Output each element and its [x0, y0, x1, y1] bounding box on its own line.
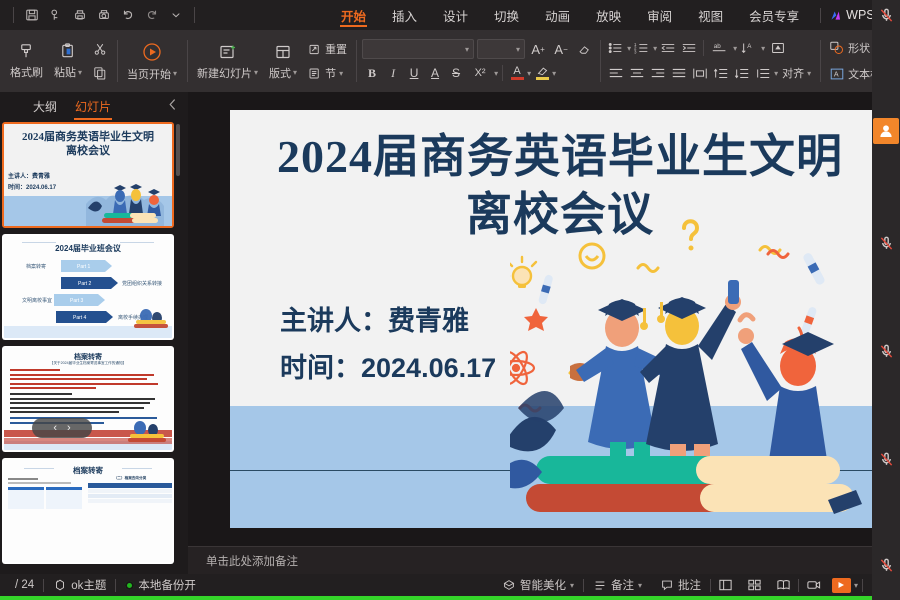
mic-muted-icon[interactable] [873, 340, 899, 362]
chevron-down-icon[interactable]: ▾ [733, 44, 737, 53]
chevron-down-icon[interactable]: ▾ [638, 581, 642, 590]
chevron-down-icon[interactable]: ▾ [339, 69, 343, 78]
comment-icon [660, 578, 674, 592]
wps-presentation-window: 开始 插入 设计 切换 动画 放映 审阅 视图 会员专享 WPS AI [0, 0, 900, 600]
part-label: Part 2 [78, 281, 92, 287]
decrease-indent-icon [660, 41, 676, 55]
bold-button[interactable]: B [362, 63, 382, 83]
font-controls-row: ▾ ▾ A+ A− [362, 39, 594, 59]
svg-text:A: A [747, 43, 752, 50]
align-center-icon [629, 67, 645, 79]
increase-font-size-button[interactable]: A+ [528, 39, 548, 59]
align-left-button[interactable] [606, 63, 626, 83]
decrease-spacing-icon [713, 67, 729, 80]
divider [194, 7, 195, 23]
paste-icon [59, 42, 78, 61]
part-label: Part 4 [73, 315, 87, 321]
italic-button[interactable]: I [383, 63, 403, 83]
divider [502, 65, 503, 81]
backup-status-dot [125, 581, 134, 590]
part-label: Part 3 [70, 298, 84, 304]
format-painter-icon [17, 42, 36, 61]
status-right: 智能美化 ▾ 备注 ▾ 批注 [493, 574, 900, 596]
cloud-link-icon[interactable] [45, 4, 67, 26]
title-bar: 开始 插入 设计 切换 动画 放映 审阅 视图 会员专享 WPS AI [0, 0, 900, 30]
chevron-down-icon[interactable]: ▾ [527, 69, 531, 78]
slide-thumbnail-panel: 大纲 幻灯片 2024届商务英语毕业生文明 离校会议 [0, 92, 188, 574]
list-item[interactable]: 2024届毕业班会议 Part 1 档案转寄 Part 2 党团组织关系转接 P… [0, 234, 188, 340]
clipboard-small-buttons [89, 35, 111, 87]
chevron-down-icon[interactable]: ▾ [254, 68, 258, 77]
align-right-button[interactable] [648, 63, 668, 83]
print-icon[interactable] [69, 4, 91, 26]
chevron-down-icon[interactable]: ▾ [516, 45, 520, 54]
meeting-participants-sidebar[interactable] [872, 0, 900, 600]
notes-icon [593, 579, 607, 592]
tab-label: 审阅 [647, 6, 672, 25]
new-slide-icon [218, 42, 238, 62]
thumbnail-slide-4[interactable]: 档案转寄 （二）档案去向分类 [2, 458, 174, 564]
current-slide[interactable]: 2024届商务英语毕业生文明 离校会议 主讲人：费青雅 时间：2024.06.1… [230, 110, 890, 528]
tab-outline[interactable]: 大纲 [32, 94, 58, 119]
record-button[interactable] [799, 574, 828, 596]
highlighter-icon [536, 66, 549, 76]
copy-button[interactable] [89, 62, 111, 84]
print-preview-icon[interactable] [93, 4, 115, 26]
tab-label: 插入 [392, 6, 417, 25]
font-color-glyph: A [513, 66, 520, 76]
thumb-subtitle: 主讲人：费青雅 时间：2024.06.17 [8, 172, 56, 195]
status-left: / 24 ok主题 本地备份开 [0, 574, 205, 596]
font-color-button[interactable]: A ▾ [507, 63, 531, 83]
line-spacing-icon [755, 67, 771, 80]
sort-icon: A [741, 41, 757, 55]
beautify-label: 智能美化 [520, 577, 566, 593]
align-center-button[interactable] [627, 63, 647, 83]
mic-muted-icon[interactable] [873, 448, 899, 470]
shape-icon [829, 40, 845, 56]
quick-access-toolbar [0, 0, 200, 30]
play-icon[interactable] [832, 578, 851, 593]
ribbon-group-slideshow: 当页开始▾ [117, 30, 187, 92]
divider [820, 8, 821, 23]
panel-tabs: 大纲 幻灯片 [0, 92, 188, 120]
graduates-illustration [86, 160, 172, 226]
reset-button[interactable]: 重置 [304, 38, 350, 60]
tab-slideshow[interactable]: 放映 [583, 0, 634, 30]
theme-label: ok主题 [71, 577, 106, 593]
ribbon-group-font: ▾ ▾ A+ A− B I [356, 30, 600, 92]
item-label: 档案转寄 [26, 263, 46, 270]
layout-icon [273, 42, 293, 62]
theme-icon [53, 578, 67, 592]
tab-start[interactable]: 开始 [328, 0, 379, 30]
eraser-icon [577, 42, 592, 57]
numbered-list-button[interactable]: 1 23 [632, 38, 652, 58]
thumb-title: 2024届毕业班会议 [4, 243, 172, 254]
divider [13, 7, 14, 23]
start-current-page-label: 当页开始▾ [127, 66, 177, 82]
section-button[interactable]: 节 ▾ [304, 62, 350, 84]
clear-format-button[interactable] [574, 39, 594, 59]
chevron-down-icon[interactable]: ▾ [173, 69, 177, 78]
align-left-icon [608, 67, 624, 79]
svg-text:ab: ab [714, 43, 722, 50]
thumbnail-slide-2[interactable]: 2024届毕业班会议 Part 1 档案转寄 Part 2 党团组织关系转接 P… [2, 234, 174, 340]
tab-label: 放映 [596, 6, 621, 25]
decrease-font-size-button[interactable]: A− [551, 39, 571, 59]
scissors-icon [92, 41, 108, 57]
chevron-down-icon[interactable]: ▾ [774, 69, 778, 78]
backup-status[interactable]: 本地备份开 [116, 574, 205, 596]
redo-icon[interactable] [141, 4, 163, 26]
decrease-line-space-button[interactable] [711, 63, 731, 83]
align-label: 对齐 [782, 65, 804, 81]
thumb-left-block [8, 478, 82, 509]
person-icon [878, 123, 894, 139]
strikethrough-button[interactable]: S [446, 63, 466, 83]
slide-editing-area[interactable]: 2024届商务英语毕业生文明 离校会议 主讲人：费青雅 时间：2024.06.1… [188, 92, 900, 574]
layout-label: 版式▾ [269, 65, 297, 81]
reset-icon [307, 42, 322, 57]
chevron-down-icon[interactable]: ▾ [293, 68, 297, 77]
justify-icon [671, 67, 687, 79]
ribbon-toolbar: 格式刷 粘贴▾ [0, 30, 900, 92]
comment-label: 批注 [678, 577, 701, 593]
tab-animation[interactable]: 动画 [532, 0, 583, 30]
mic-muted-icon[interactable] [873, 554, 899, 576]
copy-icon [92, 65, 108, 81]
mic-muted-icon[interactable] [873, 4, 899, 26]
recording-indicator-bar [0, 596, 900, 600]
font-color-swatch [511, 77, 524, 80]
increase-spacing-icon [734, 67, 750, 80]
font-size-combobox[interactable]: ▾ [477, 39, 525, 59]
text-effect-button[interactable]: A [425, 63, 445, 83]
chevron-left-icon[interactable]: ‹ [53, 422, 57, 434]
record-icon [806, 578, 821, 592]
thumbnail-list[interactable]: 2024届商务英语毕业生文明 离校会议 主讲人：费青雅 时间：2024.06.1… [0, 120, 188, 574]
tab-label: 开始 [341, 6, 366, 25]
notes-button[interactable]: 备注 ▾ [584, 574, 651, 596]
increase-indent-button[interactable] [679, 38, 699, 58]
slides-small-buttons: 重置 节 ▾ [304, 35, 350, 87]
textbox-icon: A [829, 66, 845, 82]
chevron-down-icon[interactable]: ▾ [552, 69, 556, 78]
slide-subtitle[interactable]: 主讲人：费青雅 时间：2024.06.17 [280, 298, 496, 393]
format-painter-button[interactable]: 格式刷 [6, 35, 47, 87]
slide-speaker: 主讲人：费青雅 [280, 298, 496, 345]
thumb-title: 2024届商务英语毕业生文明 离校会议 [4, 130, 172, 159]
tab-member[interactable]: 会员专享 [736, 0, 812, 30]
tab-design[interactable]: 设计 [430, 0, 481, 30]
align-right-icon [650, 67, 666, 79]
slide-time: 时间：2024.06.17 [280, 345, 496, 392]
bullet-list-icon [608, 41, 624, 55]
backup-label: 本地备份开 [138, 577, 196, 593]
decrease-indent-button[interactable] [658, 38, 678, 58]
shape-label: 形状 [848, 40, 870, 56]
wps-ai-icon [829, 9, 842, 22]
thumb-title: 档案转寄 [4, 465, 172, 476]
notes-pane[interactable]: 单击此处添加备注 [188, 546, 900, 574]
thumb-subtitle: 【关于2024届毕业生档案寄送事宜工作的通知】 [4, 361, 172, 366]
thumbnail-slide-3[interactable]: 档案转寄 【关于2024届毕业生档案寄送事宜工作的通知】 [2, 346, 174, 452]
ribbon-group-slides: 新建幻灯片▾ 版式▾ 重置 [187, 30, 356, 92]
underline-button[interactable]: U [404, 63, 424, 83]
svg-text:3: 3 [634, 49, 637, 54]
chevron-down-icon[interactable]: ▾ [78, 68, 82, 77]
beautify-icon [502, 578, 516, 592]
text-direction-button[interactable]: ab [708, 38, 732, 58]
ribbon-tabs: 开始 插入 设计 切换 动画 放映 审阅 视图 会员专享 WPS AI [328, 0, 889, 30]
section-label: 节 [325, 65, 336, 81]
theme-button[interactable]: ok主题 [44, 574, 115, 596]
decoration-illustration [124, 416, 170, 446]
line-spacing-group-button[interactable] [766, 38, 790, 58]
participant-tile[interactable] [872, 446, 900, 472]
section-icon [307, 66, 322, 81]
reading-view-button[interactable] [769, 574, 798, 596]
status-bar: / 24 ok主题 本地备份开 智能美化 ▾ [0, 574, 900, 596]
new-slide-button[interactable]: 新建幻灯片▾ [193, 35, 262, 87]
sort-button[interactable]: A [738, 38, 760, 58]
tab-label: 设计 [443, 6, 468, 25]
distribute-button[interactable] [690, 63, 710, 83]
participant-avatar[interactable] [873, 118, 899, 144]
ribbon-group-paragraph: ▾ 1 23 ▾ [600, 30, 820, 92]
paragraph-row-1: ▾ 1 23 ▾ [606, 38, 814, 58]
item-label: 党团组织关系转接 [122, 280, 162, 287]
slide-title[interactable]: 2024届商务英语毕业生文明 离校会议 [230, 128, 890, 243]
participant-tile[interactable] [872, 2, 900, 28]
chevron-down-icon[interactable]: ▾ [570, 581, 574, 590]
increase-indent-icon [681, 41, 697, 55]
participant-tile[interactable] [872, 552, 900, 578]
divider [703, 40, 704, 56]
graduates-illustration [510, 198, 890, 528]
agenda-arrows: Part 1 档案转寄 Part 2 党团组织关系转接 Part 3 文明离校事… [4, 258, 174, 333]
slide-title-line-2: 离校会议 [230, 186, 890, 244]
participant-tile[interactable] [872, 338, 900, 364]
paste-button[interactable]: 粘贴▾ [50, 35, 86, 87]
participant-tile[interactable] [872, 230, 900, 256]
line-spacing-button[interactable] [753, 63, 773, 83]
chevron-down-icon[interactable]: ▾ [807, 69, 811, 78]
item-label: 文明离校事宜 [22, 297, 52, 304]
layout-button[interactable]: 版式▾ [265, 35, 301, 87]
tab-transition[interactable]: 切换 [481, 0, 532, 30]
font-name-combobox[interactable]: ▾ [362, 39, 474, 59]
comment-button[interactable]: 批注 [651, 574, 710, 596]
notes-label: 备注 [611, 577, 634, 593]
align-objects-button[interactable]: 对齐 ▾ [779, 62, 814, 84]
format-painter-label: 格式刷 [10, 64, 43, 80]
chevron-down-icon[interactable]: ▾ [627, 44, 631, 53]
highlight-color-swatch [536, 77, 549, 80]
distribute-icon [692, 67, 708, 80]
tab-review[interactable]: 审阅 [634, 0, 685, 30]
cut-button[interactable] [89, 38, 111, 60]
slide-title-line-1: 2024届商务英语毕业生文明 [277, 131, 843, 182]
svg-text:A: A [834, 71, 839, 79]
notes-placeholder: 单击此处添加备注 [206, 553, 298, 569]
tab-label: 视图 [698, 6, 723, 25]
paragraph-row-2: ▾ 对齐 ▾ [606, 62, 814, 84]
justify-button[interactable] [669, 63, 689, 83]
page-indicator[interactable]: / 24 [6, 574, 43, 596]
smart-beautify-button[interactable]: 智能美化 ▾ [493, 574, 583, 596]
list-item[interactable]: 档案转寄 （二）档案去向分类 [0, 458, 188, 564]
chevron-down-icon[interactable]: ▾ [854, 581, 858, 590]
list-item[interactable]: 2024届商务英语毕业生文明 离校会议 主讲人：费青雅 时间：2024.06.1… [0, 122, 188, 228]
text-format-row: B I U A S X² ▾ A ▾ [362, 63, 594, 83]
undo-icon[interactable] [117, 4, 139, 26]
play-slideshow-button[interactable]: ▾ [828, 574, 862, 596]
tab-slides[interactable]: 幻灯片 [74, 94, 112, 119]
chevron-down-icon[interactable]: ▾ [761, 44, 765, 53]
chevron-down-icon[interactable]: ▾ [653, 44, 657, 53]
numbered-list-icon: 1 23 [634, 41, 650, 55]
start-current-page-button[interactable]: 当页开始▾ [123, 35, 181, 87]
tab-label: 切换 [494, 6, 519, 25]
bullet-list-button[interactable] [606, 38, 626, 58]
slide-sorter-icon [747, 578, 762, 592]
chevron-down-icon[interactable] [165, 4, 187, 26]
normal-view-icon [718, 578, 733, 592]
tab-label: 会员专享 [749, 6, 799, 25]
thumbnail-slide-1[interactable]: 2024届商务英语毕业生文明 离校会议 主讲人：费青雅 时间：2024.06.1… [2, 122, 174, 228]
chevron-left-icon[interactable] [167, 98, 178, 114]
highlight-color-button[interactable]: ▾ [532, 63, 556, 83]
text-direction-icon: ab [711, 41, 729, 55]
chevron-down-icon[interactable]: ▾ [494, 69, 498, 78]
thumbnail-nav-overlay[interactable]: ‹ › [32, 418, 92, 438]
tab-insert[interactable]: 插入 [379, 0, 430, 30]
part-label: Part 1 [77, 264, 91, 270]
paste-label: 粘贴▾ [54, 64, 82, 80]
play-circle-icon [141, 41, 163, 63]
chevron-right-icon[interactable]: › [67, 422, 71, 434]
tab-label: 动画 [545, 6, 570, 25]
reading-view-icon [776, 578, 791, 592]
tab-view[interactable]: 视图 [685, 0, 736, 30]
increase-line-space-button[interactable] [732, 63, 752, 83]
paragraph-settings-icon [769, 41, 787, 55]
normal-view-button[interactable] [711, 574, 740, 596]
superscript-button[interactable]: X² [467, 63, 493, 83]
slide-sorter-button[interactable] [740, 574, 769, 596]
new-slide-label: 新建幻灯片▾ [197, 65, 258, 81]
chevron-down-icon[interactable]: ▾ [465, 45, 469, 54]
mic-muted-icon[interactable] [873, 232, 899, 254]
reset-label: 重置 [325, 41, 347, 57]
thumb-right-block: （二）档案去向分类 [88, 476, 172, 503]
save-icon[interactable] [21, 4, 43, 26]
list-item[interactable]: 档案转寄 【关于2024届毕业生档案寄送事宜工作的通知】 [0, 346, 188, 452]
ribbon-group-clipboard: 格式刷 粘贴▾ [0, 30, 117, 92]
